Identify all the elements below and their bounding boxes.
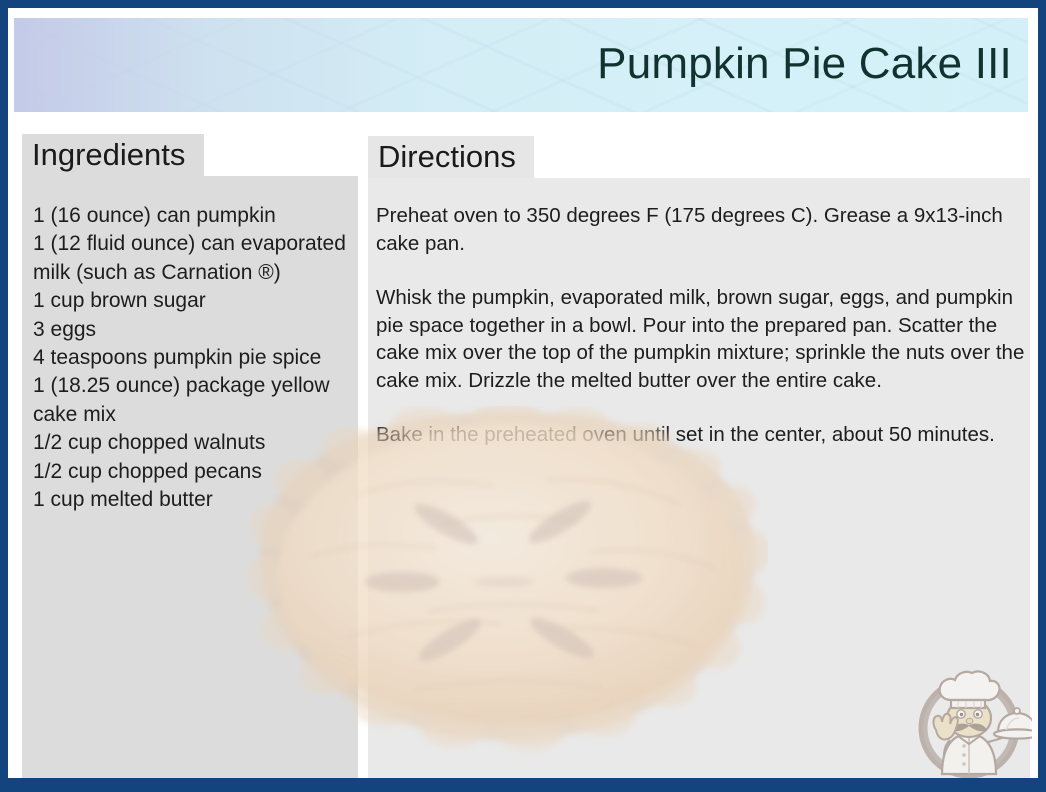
title-banner: Pumpkin Pie Cake III — [14, 18, 1028, 112]
ingredient-item: 3 eggs — [33, 316, 351, 344]
ingredient-item: 1/2 cup chopped walnuts — [33, 429, 351, 457]
ingredient-item: 1 (18.25 ounce) package yellow cake mix — [33, 372, 351, 429]
recipe-page: Pumpkin Pie Cake III Ingredients 1 (16 o… — [8, 8, 1038, 778]
ingredients-panel: 1 (16 ounce) can pumpkin1 (12 fluid ounc… — [22, 176, 358, 778]
recipe-card: Pumpkin Pie Cake III Ingredients 1 (16 o… — [0, 0, 1046, 792]
direction-step: Bake in the preheated oven until set in … — [376, 421, 1028, 449]
ingredient-item: 1 cup brown sugar — [33, 287, 351, 315]
direction-step: Whisk the pumpkin, evaporated milk, brow… — [376, 284, 1028, 394]
ingredient-item: 1 (16 ounce) can pumpkin — [33, 202, 351, 230]
ingredient-item: 1 cup melted butter — [33, 486, 351, 514]
ingredient-item: 4 teaspoons pumpkin pie spice — [33, 344, 351, 372]
ingredients-list: 1 (16 ounce) can pumpkin1 (12 fluid ounc… — [33, 202, 351, 514]
ingredients-heading: Ingredients — [22, 134, 204, 176]
page-title: Pumpkin Pie Cake III — [597, 39, 1012, 89]
directions-body: Preheat oven to 350 degrees F (175 degre… — [376, 202, 1028, 449]
directions-panel: Preheat oven to 350 degrees F (175 degre… — [368, 178, 1030, 778]
direction-step: Preheat oven to 350 degrees F (175 degre… — [376, 202, 1028, 257]
ingredient-item: 1 (12 fluid ounce) can evaporated milk (… — [33, 230, 351, 287]
directions-heading: Directions — [368, 136, 534, 178]
ingredient-item: 1/2 cup chopped pecans — [33, 458, 351, 486]
